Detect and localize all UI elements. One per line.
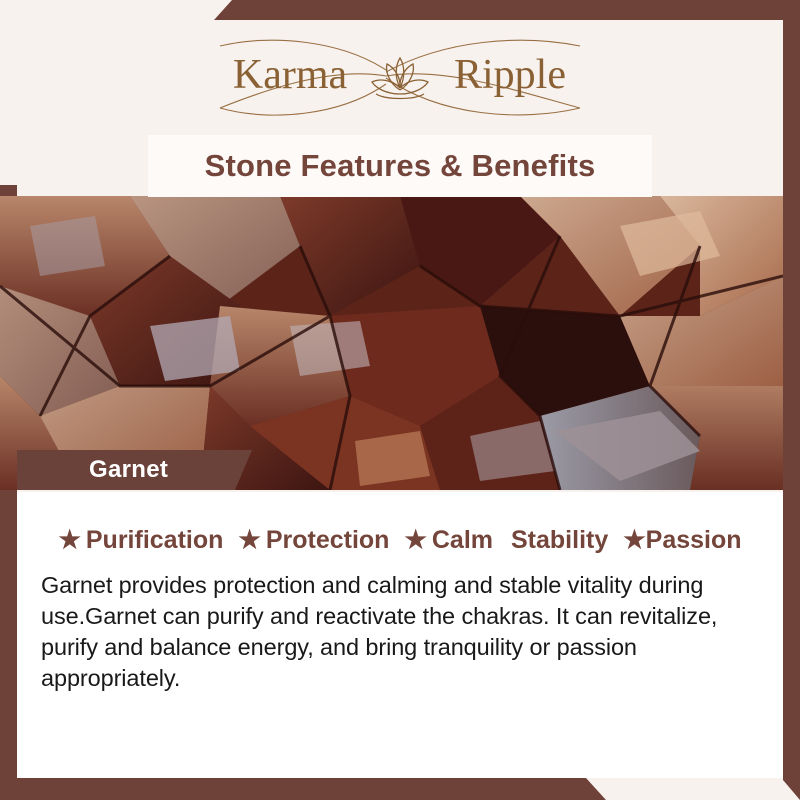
frame-border-top: [0, 0, 800, 20]
stone-details-card: ★ Purification ★ Protection ★ Calm Stabi…: [17, 492, 783, 778]
feature-label: Stability: [511, 526, 608, 555]
feature-item-stability: Stability: [511, 526, 608, 555]
feature-item-passion: ★ Passion: [623, 526, 741, 555]
stone-name: Garnet: [17, 456, 168, 484]
star-icon: ★: [238, 528, 260, 553]
garnet-crystal-image: [0, 196, 783, 490]
star-icon: ★: [404, 528, 426, 553]
feature-item-protection: ★ Protection: [238, 526, 389, 555]
star-icon: ★: [58, 528, 80, 553]
stone-photo: [0, 196, 783, 490]
feature-label: Passion: [646, 526, 742, 555]
stone-name-banner: Garnet: [17, 450, 252, 490]
feature-label: Purification: [86, 526, 224, 555]
stone-info-poster: Karma Ripple Stone Features & Benefits: [0, 0, 800, 800]
page-title: Stone Features & Benefits: [205, 148, 596, 184]
star-icon: ★: [623, 528, 645, 553]
feature-label: Protection: [266, 526, 390, 555]
feature-item-purification: ★ Purification: [58, 526, 223, 555]
feature-label: Calm: [432, 526, 493, 555]
feature-item-calm: ★ Calm: [404, 526, 493, 555]
frame-border-bottom: [0, 778, 800, 800]
brand-name-right: Ripple: [454, 52, 566, 98]
brand-logo: Karma Ripple: [0, 26, 800, 122]
brand-name-left: Karma: [233, 52, 348, 98]
feature-list: ★ Purification ★ Protection ★ Calm Stabi…: [17, 526, 783, 555]
stone-description: Garnet provides protection and calming a…: [41, 570, 763, 694]
lotus-flower-icon: Karma Ripple: [190, 26, 610, 122]
page-title-plate: Stone Features & Benefits: [148, 135, 652, 197]
